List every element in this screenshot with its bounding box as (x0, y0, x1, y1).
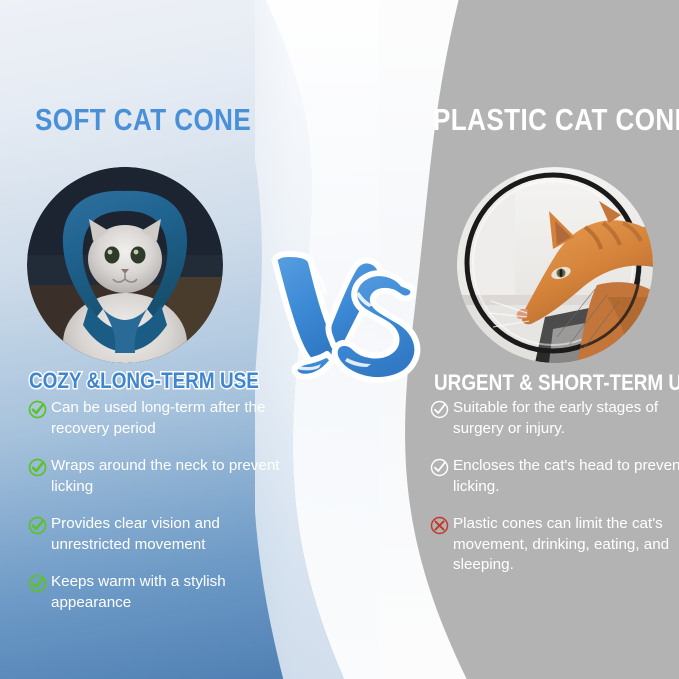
check-circle-icon (28, 516, 47, 535)
list-item-label: Encloses the cat's head to prevent licki… (453, 456, 679, 497)
check-circle-outline-icon (430, 458, 449, 477)
cross-circle-icon (430, 516, 449, 535)
list-item-label: Provides clear vision and unrestricted m… (51, 514, 296, 555)
list-item-label: Suitable for the early stages of surgery… (453, 398, 679, 439)
right-product-photo (457, 167, 653, 363)
list-item: Encloses the cat's head to prevent licki… (430, 456, 679, 497)
check-circle-icon (28, 574, 47, 593)
check-circle-outline-icon (430, 400, 449, 419)
check-circle-icon (28, 458, 47, 477)
left-product-photo (27, 167, 223, 363)
check-circle-icon (28, 400, 47, 419)
right-section-heading: URGENT & SHORT-TERM USE (434, 370, 679, 396)
list-item: Wraps around the neck to prevent licking (28, 456, 296, 497)
list-item-label: Can be used long-term after the recovery… (51, 398, 296, 439)
vs-badge (263, 248, 423, 408)
right-feature-list: Suitable for the early stages of surgery… (430, 398, 679, 593)
list-item: Keeps warm with a stylish appearance (28, 572, 296, 613)
list-item: Suitable for the early stages of surgery… (430, 398, 679, 439)
left-feature-list: Can be used long-term after the recovery… (28, 398, 296, 630)
comparison-infographic: SOFT CAT CONE (0, 0, 679, 679)
list-item: Plastic cones can limit the cat's moveme… (430, 514, 679, 576)
left-title: SOFT CAT CONE (35, 102, 251, 138)
list-item: Provides clear vision and unrestricted m… (28, 514, 296, 555)
left-section-heading: COZY &LONG-TERM USE (29, 368, 259, 394)
list-item-label: Plastic cones can limit the cat's moveme… (453, 514, 679, 576)
list-item-label: Keeps warm with a stylish appearance (51, 572, 296, 613)
right-title: PLASTIC CAT CONE (433, 102, 679, 138)
list-item: Can be used long-term after the recovery… (28, 398, 296, 439)
list-item-label: Wraps around the neck to prevent licking (51, 456, 296, 497)
